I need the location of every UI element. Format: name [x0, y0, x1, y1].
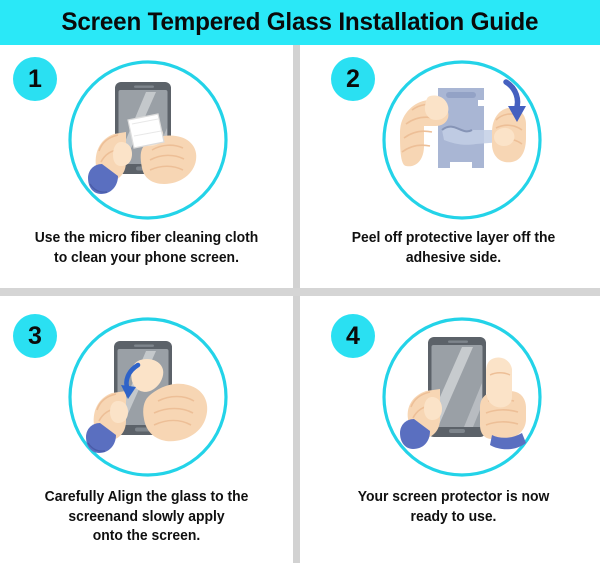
step-number-label: 1 [28, 67, 42, 92]
vertical-divider [293, 45, 300, 563]
step-number-badge-4: 4 [331, 314, 375, 358]
caption-line: onto the screen. [6, 527, 287, 547]
step-number-label: 2 [346, 67, 360, 92]
step-number-badge-1: 1 [13, 57, 57, 101]
step-caption-3: Carefully Align the glass to the screena… [6, 488, 287, 547]
page-title: Screen Tempered Glass Installation Guide [62, 8, 539, 37]
step-caption-4: Your screen protector is now ready to us… [313, 488, 594, 527]
caption-line: ready to use. [313, 508, 594, 528]
caption-line: Your screen protector is now [313, 488, 594, 508]
step-caption-2: Peel off protective layer off the adhesi… [313, 229, 594, 268]
step-panel-1: 1 [0, 45, 293, 288]
step-panel-3: 3 [0, 296, 293, 563]
step-panel-4: 4 [307, 296, 600, 563]
illustration-hands-peeling-protective-layer [380, 58, 544, 222]
step-number-label: 3 [28, 324, 42, 349]
steps-grid: 1 [0, 45, 600, 563]
step-number-badge-3: 3 [13, 314, 57, 358]
installation-guide-infographic: Screen Tempered Glass Installation Guide… [0, 0, 600, 563]
illustration-hand-wiping-phone-with-cloth [66, 58, 230, 222]
caption-line: adhesive side. [313, 249, 594, 269]
step-number-badge-2: 2 [331, 57, 375, 101]
illustration-hand-aligning-glass-on-phone [66, 315, 230, 479]
horizontal-divider [0, 288, 600, 296]
step-caption-1: Use the micro fiber cleaning cloth to cl… [6, 229, 287, 268]
caption-line: Peel off protective layer off the [313, 229, 594, 249]
step-panel-2: 2 [307, 45, 600, 288]
caption-line: Use the micro fiber cleaning cloth [6, 229, 287, 249]
header-bar: Screen Tempered Glass Installation Guide [0, 0, 600, 45]
step-number-label: 4 [346, 324, 360, 349]
caption-line: screenand slowly apply [6, 508, 287, 528]
caption-line: Carefully Align the glass to the [6, 488, 287, 508]
illustration-hand-holding-phone-thumbs-up [380, 315, 544, 479]
caption-line: to clean your phone screen. [6, 249, 287, 269]
